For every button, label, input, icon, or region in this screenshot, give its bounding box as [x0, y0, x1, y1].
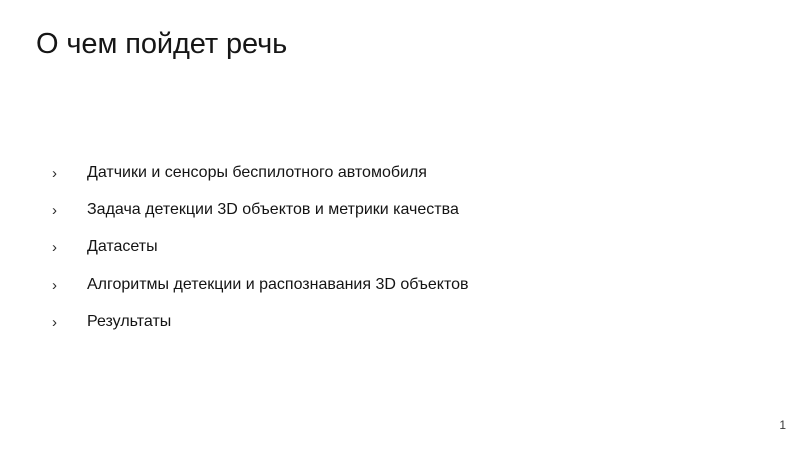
list-item-label: Задача детекции 3D объектов и метрики ка…: [87, 199, 459, 221]
list-item: › Результаты: [52, 311, 752, 348]
chevron-right-icon: ›: [52, 236, 87, 259]
list-item: › Алгоритмы детекции и распознавания 3D …: [52, 274, 752, 311]
chevron-right-icon: ›: [52, 162, 87, 185]
agenda-list: › Датчики и сенсоры беспилотного автомоб…: [52, 162, 752, 348]
chevron-right-icon: ›: [52, 274, 87, 297]
list-item: › Задача детекции 3D объектов и метрики …: [52, 199, 752, 236]
page-number: 1: [779, 418, 786, 432]
list-item: › Датасеты: [52, 236, 752, 273]
list-item-label: Результаты: [87, 311, 171, 333]
page-title: О чем пойдет речь: [36, 26, 287, 62]
list-item-label: Датасеты: [87, 236, 158, 258]
chevron-right-icon: ›: [52, 199, 87, 222]
presentation-slide: О чем пойдет речь › Датчики и сенсоры бе…: [0, 0, 800, 450]
chevron-right-icon: ›: [52, 311, 87, 334]
list-item-label: Алгоритмы детекции и распознавания 3D об…: [87, 274, 469, 296]
list-item-label: Датчики и сенсоры беспилотного автомобил…: [87, 162, 427, 184]
list-item: › Датчики и сенсоры беспилотного автомоб…: [52, 162, 752, 199]
